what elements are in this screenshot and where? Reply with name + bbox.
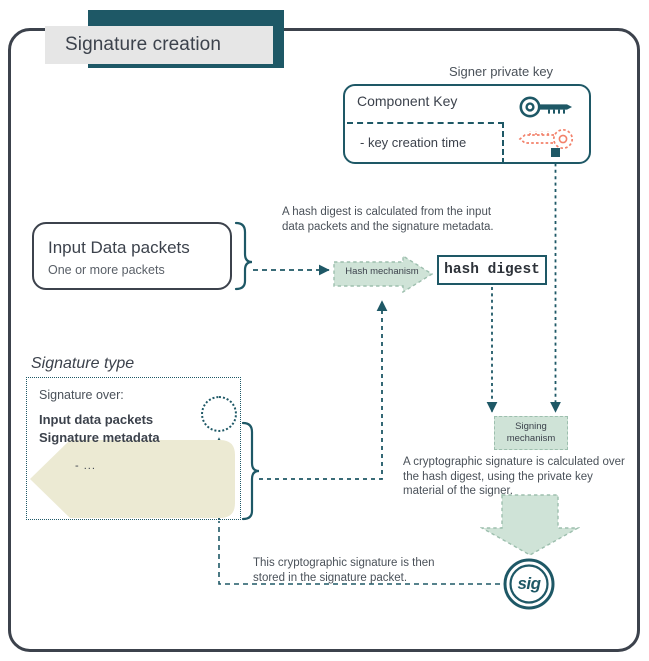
signature-item-signature-metadata: Signature metadata [39, 430, 160, 445]
signature-item-input-data-packets: Input data packets [39, 412, 153, 427]
signature-metadata-node [201, 396, 237, 432]
signature-badge-label: sig [503, 558, 555, 610]
page-title-label: Signature creation [45, 34, 221, 56]
signature-output-arrow [480, 494, 580, 556]
signature-type-title: Signature type [31, 355, 134, 373]
input-data-packets-subtitle: One or more packets [48, 263, 165, 277]
signing-explanation-note: A cryptographic signature is calculated … [403, 455, 631, 499]
hash-explanation-note: A hash digest is calculated from the inp… [282, 205, 497, 234]
signing-mechanism-box: Signing mechanism [494, 416, 568, 450]
private-key-anchor-point [551, 148, 560, 157]
signing-mechanism-line1: Signing [515, 421, 547, 433]
signature-metadata-tag-shape [30, 440, 235, 518]
hash-mechanism-label: Hash mechanism [338, 266, 426, 277]
key-creation-time-label: - key creation time [360, 135, 466, 150]
hash-digest-box: hash digest [437, 255, 547, 285]
signature-ellipsis-label: - ... [75, 460, 96, 472]
hash-digest-label: hash digest [444, 262, 540, 278]
signing-mechanism-line2: mechanism [507, 433, 556, 445]
signature-stored-note: This cryptographic signature is then sto… [253, 556, 468, 585]
signature-over-label: Signature over: [39, 388, 124, 402]
page-title: Signature creation [45, 26, 273, 64]
component-key-title: Component Key [357, 93, 457, 109]
key-icon [519, 94, 577, 120]
key-icon-private [516, 125, 576, 153]
signer-private-key-label: Signer private key [449, 64, 553, 79]
signature-creation-diagram: Signature creation Signer private key Co… [0, 0, 649, 661]
input-data-packets-title: Input Data packets [48, 238, 190, 258]
